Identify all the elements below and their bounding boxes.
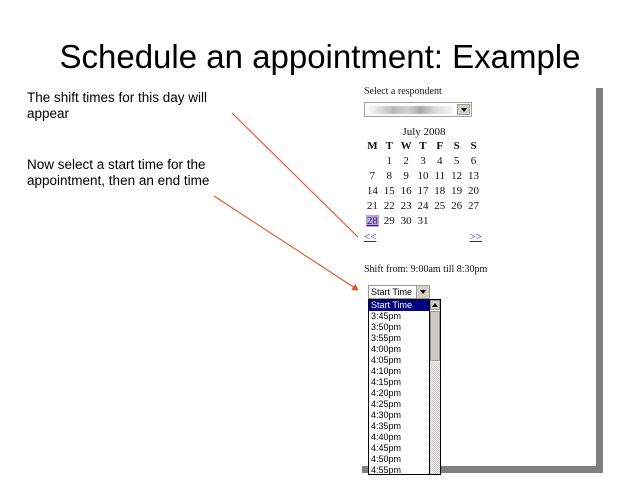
- calendar-day[interactable]: 22: [381, 198, 398, 213]
- weekday-header: W: [398, 140, 415, 153]
- calendar-day[interactable]: 11: [431, 168, 448, 183]
- calendar-month-label: July 2008: [364, 126, 484, 138]
- calendar-day[interactable]: 3: [415, 153, 432, 168]
- calendar-next-link[interactable]: >>: [470, 231, 482, 243]
- calendar-day: [448, 213, 465, 228]
- embedded-browser-screenshot: Select a respondent July 2008 M T W T F …: [358, 84, 596, 466]
- weekday-header: S: [465, 140, 482, 153]
- calendar-day[interactable]: 5: [448, 153, 465, 168]
- calendar-day[interactable]: 29: [381, 213, 398, 228]
- calendar-day: [465, 213, 482, 228]
- start-time-list-scrollbar[interactable]: [430, 299, 441, 475]
- calendar-day[interactable]: 12: [448, 168, 465, 183]
- slide-canvas: Schedule an appointment: Example The shi…: [0, 0, 640, 480]
- scroll-up-arrow-icon[interactable]: [430, 300, 440, 310]
- calendar-week-row: 1 2 3 4 5 6: [364, 153, 482, 168]
- calendar-day-selected[interactable]: 28: [364, 213, 381, 228]
- start-time-option[interactable]: 4:30pm: [369, 410, 429, 421]
- start-time-option[interactable]: 4:05pm: [369, 355, 429, 366]
- start-time-option[interactable]: 4:35pm: [369, 421, 429, 432]
- calendar-day[interactable]: 4: [431, 153, 448, 168]
- calendar-day[interactable]: 13: [465, 168, 482, 183]
- arrow-to-start-time: [214, 196, 358, 290]
- start-time-option[interactable]: 4:45pm: [369, 443, 429, 454]
- calendar-day[interactable]: 30: [398, 213, 415, 228]
- weekday-header: M: [364, 140, 381, 153]
- start-time-option[interactable]: 4:10pm: [369, 366, 429, 377]
- scrollbar-thumb[interactable]: [430, 311, 440, 361]
- calendar-day[interactable]: 1: [381, 153, 398, 168]
- respondent-select[interactable]: [364, 102, 472, 117]
- calendar-day[interactable]: 20: [465, 183, 482, 198]
- calendar-day: [431, 213, 448, 228]
- scrollbar-track[interactable]: [430, 362, 440, 474]
- annotation-note-2: Now select a start time for the appointm…: [27, 157, 247, 189]
- calendar-day[interactable]: 31: [415, 213, 432, 228]
- respondent-label: Select a respondent: [364, 86, 442, 97]
- calendar-table: M T W T F S S 1 2 3 4: [364, 140, 482, 228]
- screenshot-shadow-right: [596, 88, 603, 470]
- calendar: July 2008 M T W T F S S: [364, 126, 484, 244]
- start-time-option[interactable]: 4:00pm: [369, 344, 429, 355]
- calendar-day[interactable]: 9: [398, 168, 415, 183]
- calendar-day[interactable]: 21: [364, 198, 381, 213]
- calendar-navigation: << >>: [364, 231, 482, 244]
- start-time-option[interactable]: 4:55pm: [369, 465, 429, 475]
- start-time-option[interactable]: 3:50pm: [369, 322, 429, 333]
- calendar-week-row: 7 8 9 10 11 12 13: [364, 168, 482, 183]
- start-time-option[interactable]: 3:45pm: [369, 311, 429, 322]
- calendar-day[interactable]: 2: [398, 153, 415, 168]
- calendar-day[interactable]: 26: [448, 198, 465, 213]
- calendar-day[interactable]: 6: [465, 153, 482, 168]
- calendar-day[interactable]: 27: [465, 198, 482, 213]
- calendar-day[interactable]: 10: [415, 168, 432, 183]
- weekday-header: T: [381, 140, 398, 153]
- start-time-option[interactable]: 3:55pm: [369, 333, 429, 344]
- start-time-option[interactable]: 4:20pm: [369, 388, 429, 399]
- calendar-week-row: 14 15 16 17 18 19 20: [364, 183, 482, 198]
- calendar-day[interactable]: 15: [381, 183, 398, 198]
- chevron-down-icon[interactable]: [416, 286, 429, 298]
- calendar-week-row: 21 22 23 24 25 26 27: [364, 198, 482, 213]
- start-time-selected-label: Start Time: [369, 287, 416, 297]
- calendar-day[interactable]: 25: [431, 198, 448, 213]
- weekday-header: T: [415, 140, 432, 153]
- start-time-option-list[interactable]: Start Time 3:45pm 3:50pm 3:55pm 4:00pm 4…: [368, 299, 430, 475]
- calendar-day[interactable]: 23: [398, 198, 415, 213]
- weekday-header: S: [448, 140, 465, 153]
- start-time-option[interactable]: 4:50pm: [369, 454, 429, 465]
- calendar-day[interactable]: 8: [381, 168, 398, 183]
- start-time-option[interactable]: 4:25pm: [369, 399, 429, 410]
- calendar-prev-link[interactable]: <<: [364, 231, 376, 243]
- annotation-note-1: The shift times for this day will appear: [27, 90, 242, 122]
- calendar-header-row: M T W T F S S: [364, 140, 482, 153]
- start-time-option[interactable]: 4:40pm: [369, 432, 429, 443]
- calendar-day[interactable]: 14: [364, 183, 381, 198]
- calendar-day[interactable]: 17: [415, 183, 432, 198]
- shift-hours-text: Shift from: 9:00am till 8:30pm: [364, 264, 487, 275]
- respondent-selected-value: [367, 106, 453, 114]
- calendar-day-selected-label: 28: [366, 215, 379, 227]
- start-time-select[interactable]: Start Time: [368, 285, 430, 299]
- calendar-day[interactable]: 7: [364, 168, 381, 183]
- calendar-day[interactable]: 19: [448, 183, 465, 198]
- weekday-header: F: [431, 140, 448, 153]
- start-time-option[interactable]: Start Time: [369, 300, 429, 311]
- arrow-to-calendar: [232, 113, 364, 243]
- calendar-day[interactable]: 18: [431, 183, 448, 198]
- calendar-day[interactable]: 16: [398, 183, 415, 198]
- calendar-week-row: 28 29 30 31: [364, 213, 482, 228]
- start-time-option[interactable]: 4:15pm: [369, 377, 429, 388]
- calendar-day[interactable]: 24: [415, 198, 432, 213]
- calendar-day: [364, 153, 381, 168]
- chevron-down-icon[interactable]: [457, 104, 470, 115]
- page-title: Schedule an appointment: Example: [0, 38, 640, 76]
